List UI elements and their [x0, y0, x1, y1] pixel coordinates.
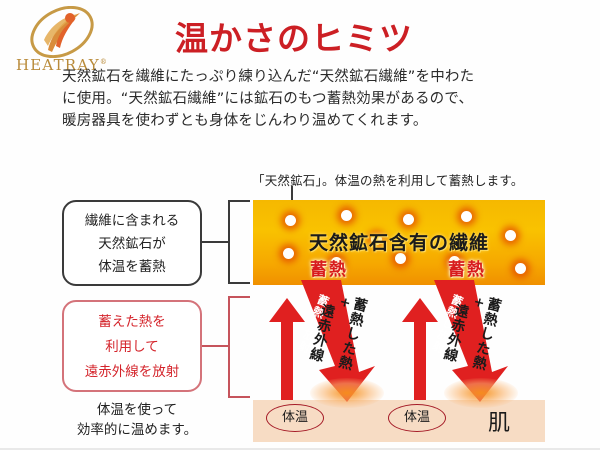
callout-line: 蓄えた熱を	[64, 310, 200, 335]
infographic-page: HEATRAY® 温かさのヒミツ 天然鉱石を繊維にたっぷり練り込んだ“天然鉱石繊…	[0, 0, 600, 450]
heat-glow	[444, 378, 518, 408]
page-title: 温かさのヒミツ	[175, 12, 413, 60]
connector-bracket-red	[228, 396, 250, 398]
connector-bracket-dark	[228, 200, 250, 202]
callout-line: 利用して	[64, 335, 200, 360]
heat-glow	[310, 378, 384, 408]
heat-storage-badge: 蓄熱	[448, 255, 486, 280]
connector-bracket-red	[228, 296, 230, 398]
skin-label: 肌	[488, 405, 510, 437]
connector-bracket-dark	[228, 200, 230, 284]
mineral-dot	[285, 215, 296, 226]
callout-radiate-infrared: 蓄えた熱を 利用して 遠赤外線を放射	[62, 300, 202, 392]
heat-storage-badge: 蓄熱	[310, 255, 348, 280]
callout-line: 体温を蓄熱	[64, 256, 200, 279]
mineral-dot	[403, 214, 414, 225]
intro-line: 暖房器具を使わずとも身体をじんわり温めてくれます。	[62, 110, 572, 132]
connector-bracket-dark	[228, 282, 250, 284]
mineral-dot	[341, 210, 352, 221]
intro-line: に使用。“天然鉱石繊維”には鉱石のもつ蓄熱効果があるので、	[62, 88, 572, 110]
connector-bracket-dark	[202, 241, 230, 243]
efficiency-note: 体温を使って 効率的に温めます。	[52, 400, 222, 440]
efficiency-note-line: 体温を使って	[52, 400, 222, 420]
ore-bar-label: 天然鉱石含有の繊維	[253, 228, 545, 255]
body-temperature-label: 体温	[266, 404, 324, 432]
mineral-dot	[515, 263, 526, 274]
callout-line: 遠赤外線を放射	[64, 360, 200, 385]
intro-line: 天然鉱石を繊維にたっぷり練り込んだ“天然鉱石繊維”を中わた	[62, 66, 572, 88]
intro-paragraph: 天然鉱石を繊維にたっぷり練り込んだ“天然鉱石繊維”を中わた に使用。“天然鉱石繊…	[62, 66, 572, 132]
callout-fiber-stores-heat: 繊維に含まれる 天然鉱石が 体温を蓄熱	[62, 200, 202, 286]
mineral-dot	[461, 211, 472, 222]
body-temperature-label: 体温	[388, 404, 446, 432]
swirl-flame-logo-icon	[26, 6, 98, 58]
connector-bracket-red	[228, 296, 250, 298]
callout-line: 繊維に含まれる	[64, 210, 200, 233]
efficiency-note-line: 効率的に温めます。	[52, 420, 222, 440]
connector-bracket-red	[202, 345, 230, 347]
callout-line: 天然鉱石が	[64, 233, 200, 256]
trademark-symbol: ®	[100, 58, 108, 66]
